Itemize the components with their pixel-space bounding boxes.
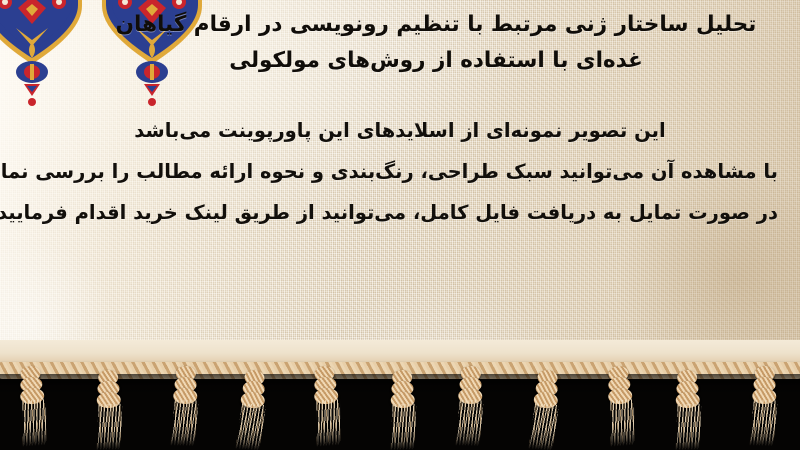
carpet-fringe-band (0, 340, 800, 450)
tassel-brush (235, 403, 266, 450)
fringe-tassel (605, 365, 637, 447)
slide-body-text: این تصویر نمونه‌ای از اسلایدهای این پاور… (22, 110, 778, 233)
fringe-tassel (674, 370, 702, 450)
tassel-brush (749, 400, 777, 447)
slide-canvas: تحلیل ساختار ژنی مرتبط با تنظیم رونویسی … (0, 0, 800, 450)
slide-title-line-2: غده‌ای با استفاده از روش‌های مولکولی (86, 43, 786, 79)
body-line-1: این تصویر نمونه‌ای از اسلایدهای این پاور… (22, 110, 778, 151)
tassel-brush (170, 400, 198, 447)
tassel-brush (675, 404, 701, 450)
fringe-tassel (17, 365, 49, 447)
fringe-tassel (456, 366, 484, 447)
fringe-tassel (235, 369, 267, 450)
slide-title: تحلیل ساختار ژنی مرتبط با تنظیم رونویسی … (86, 7, 786, 79)
fringe-tassel (389, 370, 417, 450)
fringe-tassel (95, 370, 123, 450)
fringe-tassel (171, 366, 199, 447)
fringe-tassel (311, 365, 343, 447)
tassel-brush (23, 399, 47, 447)
slide-title-line-1: تحلیل ساختار ژنی مرتبط با تنظیم رونویسی … (116, 12, 757, 37)
tassel-brush (455, 400, 483, 447)
fringe-tassel (529, 369, 561, 450)
fringe-tassel-row (0, 366, 800, 450)
tassel-brush (316, 399, 340, 447)
tassel-brush (97, 404, 123, 450)
fringe-tassel (750, 366, 778, 447)
tassel-brush (390, 404, 416, 450)
body-line-3: در صورت تمایل به دریافت فایل کامل، می‌تو… (22, 192, 778, 233)
tassel-brush (529, 403, 560, 450)
body-line-2: با مشاهده آن می‌توانید سبک طراحی، رنگ‌بن… (22, 151, 778, 192)
tassel-brush (610, 399, 634, 447)
